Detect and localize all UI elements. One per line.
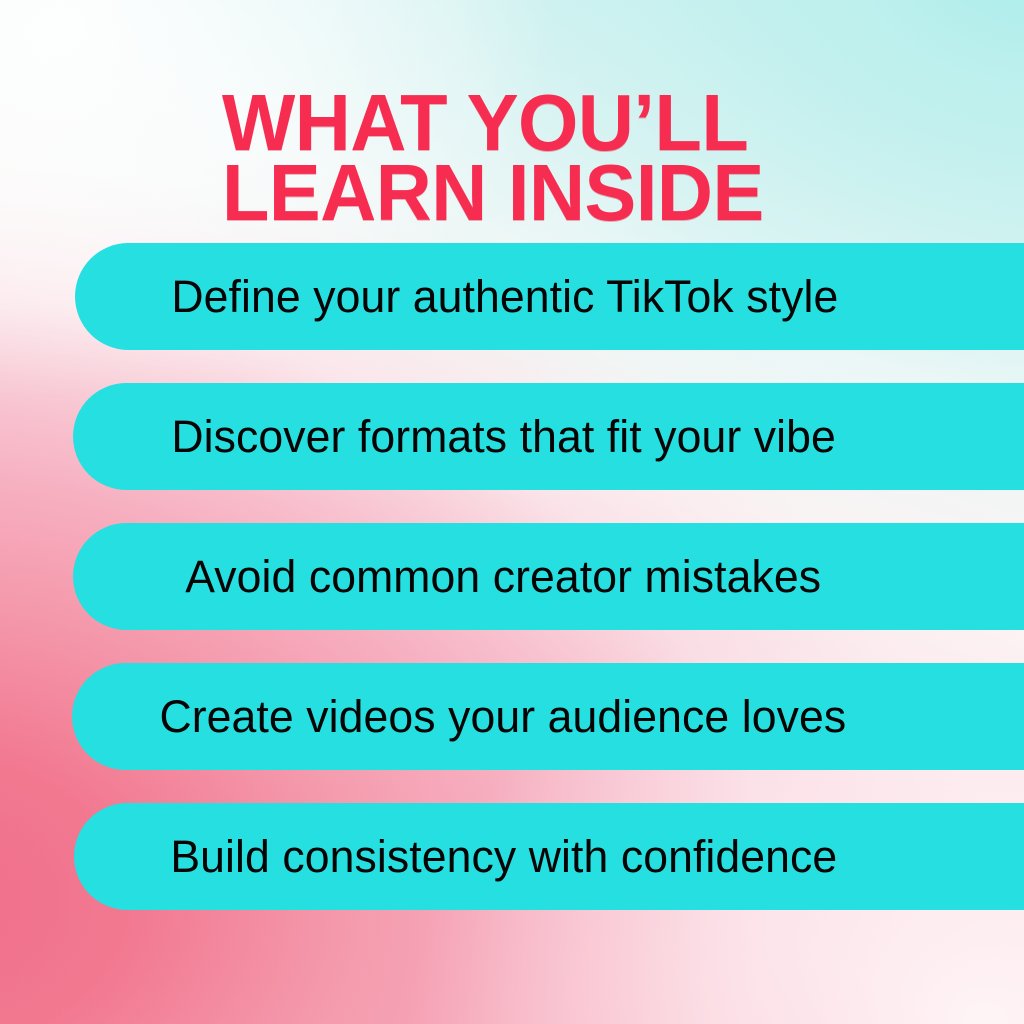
list-item-label: Build consistency with confidence [171,834,838,879]
page-title-line-1: WHAT YOU’LL [222,89,940,156]
page-title: WHAT YOU’LL LEARN INSIDE [222,89,962,225]
list-item-label: Create videos your audience loves [160,694,847,739]
list-item[interactable]: Build consistency with confidence [74,803,1024,910]
list-item[interactable]: Avoid common creator mistakes [73,523,1024,630]
poster-canvas: WHAT YOU’LL LEARN INSIDE Define your aut… [0,0,1024,1024]
list-item-label: Discover formats that fit your vibe [171,414,836,459]
list-item-label: Avoid common creator mistakes [186,554,822,599]
list-item[interactable]: Discover formats that fit your vibe [73,383,1024,490]
list-item[interactable]: Define your authentic TikTok style [75,243,1024,350]
page-title-line-2: LEARN INSIDE [222,159,940,226]
list-item-label: Define your authentic TikTok style [171,274,838,319]
benefits-list: Define your authentic TikTok style Disco… [0,243,1024,910]
list-item[interactable]: Create videos your audience loves [72,663,1024,770]
